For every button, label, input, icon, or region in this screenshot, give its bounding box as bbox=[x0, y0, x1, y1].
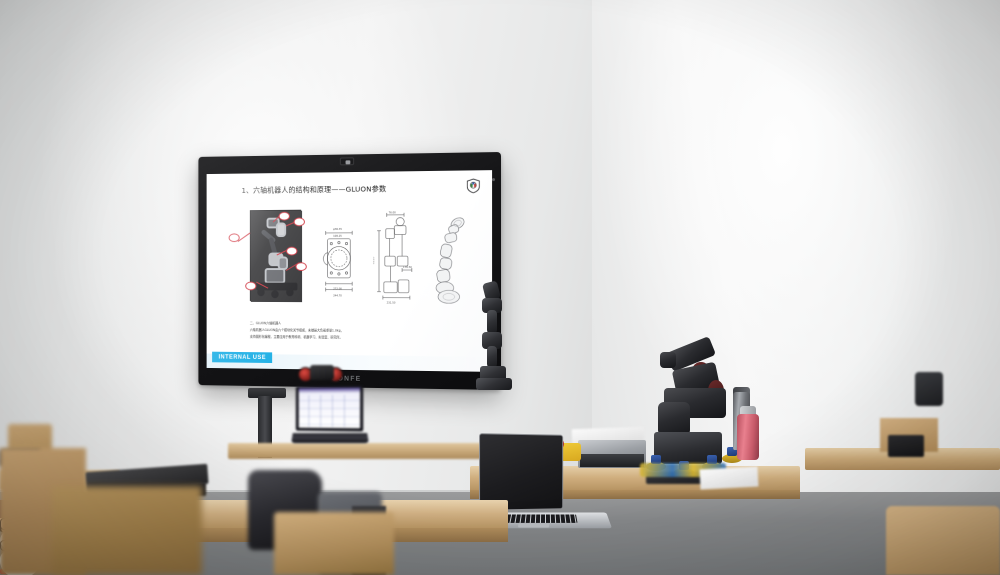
rig-joint-6 bbox=[660, 352, 676, 368]
right-optical-device bbox=[915, 372, 943, 406]
slide-title: 1、六轴机器人的结构和原理——GLUON参数 bbox=[242, 183, 387, 195]
callout-bubble bbox=[229, 233, 240, 242]
company-emblem-icon bbox=[466, 178, 480, 193]
slide-render-robot-iso bbox=[425, 214, 472, 306]
svg-text:63.20: 63.20 bbox=[373, 256, 375, 264]
svg-text:178.50: 178.50 bbox=[403, 265, 412, 269]
slide-drawing-base-plate: φ36.35 108.25 272.00 244.70 bbox=[314, 223, 363, 300]
svg-text:244.70: 244.70 bbox=[333, 293, 342, 297]
robot-link-1 bbox=[487, 310, 497, 334]
slide-body-line-1: 二、GLUON六轴机器人 bbox=[250, 320, 281, 325]
pink-bottle bbox=[737, 414, 759, 460]
callout-bubble bbox=[245, 282, 256, 291]
presentation-slide: 1、六轴机器人的结构和原理——GLUON参数 bbox=[207, 170, 492, 372]
chair-right bbox=[886, 506, 1000, 575]
laptop-left-spreadsheet-app[interactable] bbox=[299, 388, 360, 429]
robot-base-plate bbox=[476, 378, 512, 390]
cardboard-box-foreground bbox=[52, 486, 202, 575]
callout-bubble bbox=[296, 262, 307, 271]
robot-arm-held bbox=[476, 282, 522, 394]
right-black-module bbox=[888, 435, 924, 457]
svg-text:231.50: 231.50 bbox=[387, 300, 396, 304]
callout-bubble bbox=[279, 212, 290, 221]
slide-body-line-2: 六轴机器人GLUON由六个模块化关节组成，末端最大负载重量1.0kg， bbox=[250, 327, 344, 333]
callout-bubble bbox=[294, 217, 305, 226]
desk-papers bbox=[700, 466, 759, 489]
robot-link-2 bbox=[487, 346, 497, 368]
slide-body-line-3: 支持图形化编程，主要应用于教育科研、机器学习、实验室、研究所。 bbox=[250, 334, 343, 340]
svg-text:108.25: 108.25 bbox=[333, 234, 342, 238]
classroom-scene: CONFE 1、六轴机器人的结构和原理——GLUON参数 bbox=[0, 0, 1000, 575]
svg-text:76.00: 76.00 bbox=[389, 211, 397, 215]
laptop-front-trackpad[interactable] bbox=[518, 523, 549, 527]
board-power-led-icon bbox=[492, 178, 495, 181]
board-camera-icon bbox=[340, 157, 354, 165]
mini-robot-body bbox=[310, 365, 334, 380]
laptop-left-screen[interactable] bbox=[296, 386, 363, 432]
board-screen[interactable]: 1、六轴机器人的结构和原理——GLUON参数 bbox=[207, 170, 492, 372]
callout-bubble bbox=[286, 247, 297, 256]
interactive-whiteboard[interactable]: CONFE 1、六轴机器人的结构和原理——GLUON参数 bbox=[198, 152, 501, 390]
chair-center-foreground bbox=[274, 512, 394, 575]
svg-text:272.00: 272.00 bbox=[333, 287, 342, 291]
laptop-left-keyboard[interactable] bbox=[291, 433, 369, 443]
rig-joint-2 bbox=[658, 402, 690, 436]
laptop-left[interactable] bbox=[292, 386, 368, 448]
svg-text:φ36.35: φ36.35 bbox=[333, 227, 342, 231]
mini-desktop-robot bbox=[298, 362, 350, 384]
slide-drawing-arm-assembly: 76.00 178.50 231.50 63.20 bbox=[373, 211, 419, 310]
internal-use-badge: INTERNAL USE bbox=[212, 352, 272, 363]
